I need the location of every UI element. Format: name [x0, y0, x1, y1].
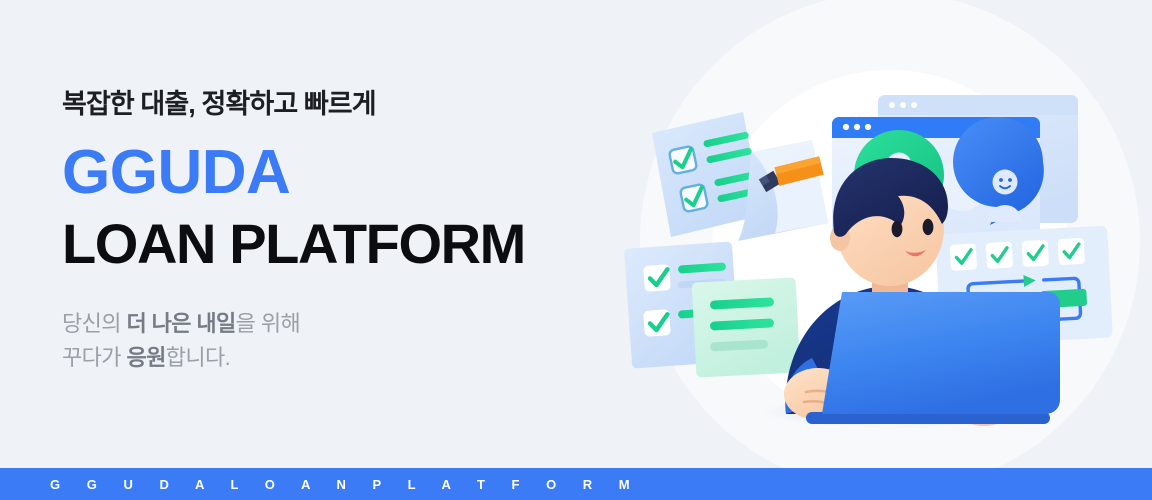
hero-banner: 복잡한 대출, 정확하고 빠르게 GGUDA LOAN PLATFORM 당신의…	[0, 0, 1152, 500]
laptop-lid	[822, 292, 1060, 414]
hero-tagline-line-1: 당신의 더 나은 내일을 위해	[62, 307, 602, 341]
window-dot	[865, 124, 871, 130]
bottom-marquee-text: G G U D A L O A N P L A T F O R M	[0, 477, 641, 492]
hero-product-title: LOAN PLATFORM	[62, 211, 602, 277]
bottom-marquee-bar: G G U D A L O A N P L A T F O R M	[0, 468, 1152, 500]
tagline-line1-strong: 더 나은 내일	[126, 311, 235, 336]
window-dot	[854, 124, 860, 130]
tagline-line1-prefix: 당신의	[62, 311, 126, 336]
check-tile	[1022, 240, 1049, 267]
hero-tagline: 당신의 더 나은 내일을 위해 꾸다가 응원합니다.	[62, 307, 602, 375]
hero-illustration	[600, 0, 1152, 468]
window-dot	[900, 102, 906, 108]
avatar-head	[993, 170, 1018, 195]
tagline-line1-suffix: 을 위해	[236, 311, 300, 336]
hero-brand-title: GGUDA	[62, 136, 602, 209]
hero-copy-block: 복잡한 대출, 정확하고 빠르게 GGUDA LOAN PLATFORM 당신의…	[62, 88, 602, 375]
tagline-line2-strong: 응원	[126, 345, 165, 370]
avatar-eye	[999, 178, 1003, 182]
person-eye	[923, 219, 934, 235]
window-dot	[843, 124, 849, 130]
avatar-eye	[1008, 178, 1012, 182]
check-tile	[986, 242, 1013, 269]
tagline-line2-prefix: 꾸다가	[62, 345, 126, 370]
person-eye	[892, 221, 903, 237]
hero-tagline-line-2: 꾸다가 응원합니다.	[62, 341, 602, 375]
check-tile	[1058, 238, 1085, 265]
hero-eyebrow: 복잡한 대출, 정확하고 빠르게	[62, 88, 602, 122]
mint-note-card	[692, 277, 801, 377]
laptop	[806, 292, 1060, 424]
window-dot	[911, 102, 917, 108]
window-dot	[889, 102, 895, 108]
check-tile	[950, 243, 977, 270]
tagline-line2-suffix: 합니다.	[166, 345, 230, 370]
